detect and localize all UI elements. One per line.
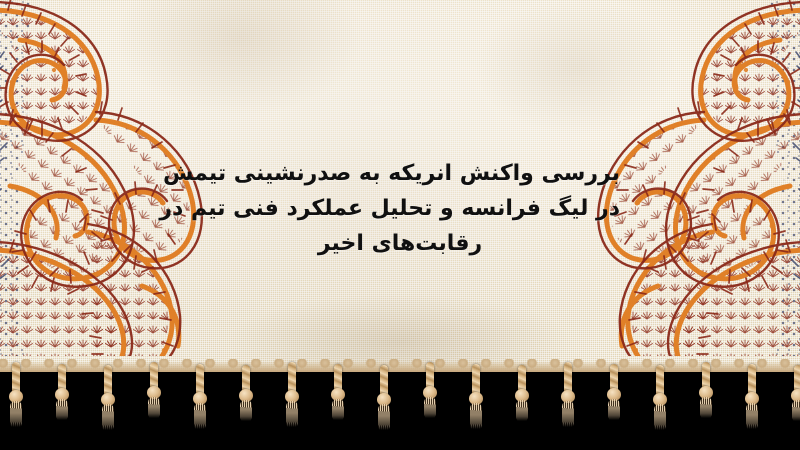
- tassel-brush: [148, 397, 160, 418]
- tassel-knot: [561, 390, 575, 403]
- tassel-knot: [331, 388, 345, 401]
- tassel-knot: [239, 389, 253, 402]
- tassel-knot: [469, 392, 483, 405]
- tassel-knot: [653, 393, 667, 406]
- linen-cloth-panel: بررسی واکنش انریکه به صدرنشینی تیمش در ل…: [0, 0, 800, 372]
- tassel-knot: [423, 386, 437, 399]
- tassel-brush: [102, 404, 114, 430]
- tassel-knot: [607, 388, 621, 401]
- cloth-scalloped-hem: [0, 359, 800, 379]
- tassel-brush: [746, 403, 758, 429]
- tassel-brush: [332, 399, 344, 420]
- tassel-brush: [700, 397, 712, 418]
- tassel-knot: [791, 389, 800, 402]
- tassel-brush: [470, 403, 482, 429]
- tassel-brush: [608, 399, 620, 420]
- headline-line-3: رقابت‌های اخیر: [180, 226, 620, 261]
- tassel-knot: [147, 386, 161, 399]
- headline-text: بررسی واکنش انریکه به صدرنشینی تیمش در ل…: [180, 156, 620, 261]
- tassel-brush: [286, 401, 298, 427]
- tassel-brush: [56, 399, 68, 420]
- tassel-knot: [101, 393, 115, 406]
- tassel-knot: [515, 389, 529, 402]
- tassel-knot: [285, 390, 299, 403]
- tassel-brush: [10, 401, 22, 427]
- tassel-brush: [792, 400, 800, 421]
- tassel-knot: [699, 386, 713, 399]
- tassel-brush: [378, 404, 390, 430]
- decorative-banner: بررسی واکنش انریکه به صدرنشینی تیمش در ل…: [0, 0, 800, 450]
- headline-line-1: بررسی واکنش انریکه به صدرنشینی تیمش: [180, 156, 620, 191]
- tassel-brush: [562, 401, 574, 427]
- tassel-knot: [377, 393, 391, 406]
- tassel-brush: [240, 400, 252, 421]
- tassel-knot: [745, 392, 759, 405]
- tassel-brush: [654, 404, 666, 430]
- headline-line-2: در لیگ فرانسه و تحلیل عملکرد فنی تیم در: [180, 191, 620, 226]
- tassel-brush: [424, 397, 436, 418]
- tassel-brush: [194, 403, 206, 429]
- tassel-knot: [55, 388, 69, 401]
- tassel-knot: [193, 392, 207, 405]
- tassel-brush: [516, 400, 528, 421]
- tassel-knot: [9, 390, 23, 403]
